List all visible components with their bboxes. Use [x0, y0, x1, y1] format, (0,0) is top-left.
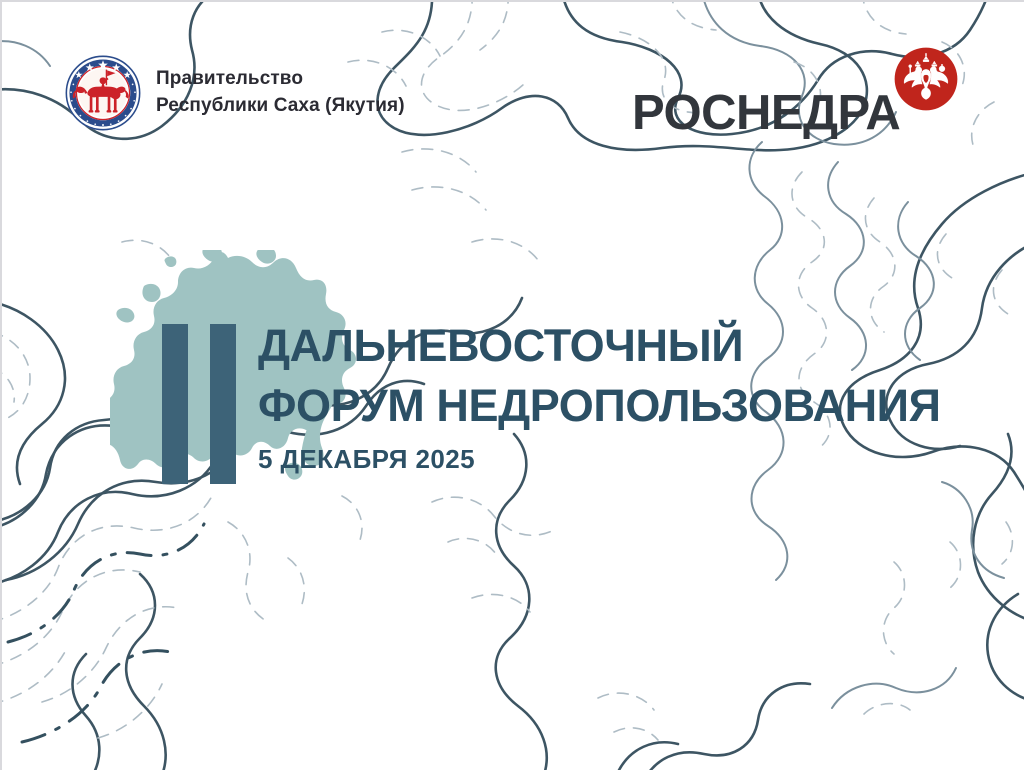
forum-date: 5 ДЕКАБРЯ 2025 [258, 446, 941, 472]
forum-title-line-1: ДАЛЬНЕВОСТОЧНЫЙ [258, 316, 941, 376]
rosnedra-block: РОСНЕДРА [632, 47, 958, 138]
numeral-bar-left [162, 324, 188, 484]
forum-poster: Правительство Республики Саха (Якутия) Р… [0, 0, 1024, 770]
sakha-republic-coat-of-arms [64, 54, 142, 132]
numeral-bar-right [210, 324, 236, 484]
sakha-government-label: Правительство Республики Саха (Якутия) [156, 66, 405, 120]
forum-title-line-2: ФОРУМ НЕДРОПОЛЬЗОВАНИЯ [258, 376, 941, 436]
rosnedra-wordmark: РОСНЕДРА [632, 89, 900, 138]
russian-double-headed-eagle-icon [894, 47, 958, 111]
forum-edition-numeral [162, 324, 236, 484]
forum-title-lockup: ДАЛЬНЕВОСТОЧНЫЙ ФОРУМ НЕДРОПОЛЬЗОВАНИЯ 5… [162, 316, 941, 484]
forum-title-text: ДАЛЬНЕВОСТОЧНЫЙ ФОРУМ НЕДРОПОЛЬЗОВАНИЯ 5… [258, 316, 941, 472]
sakha-government-block: Правительство Республики Саха (Якутия) [64, 54, 405, 132]
